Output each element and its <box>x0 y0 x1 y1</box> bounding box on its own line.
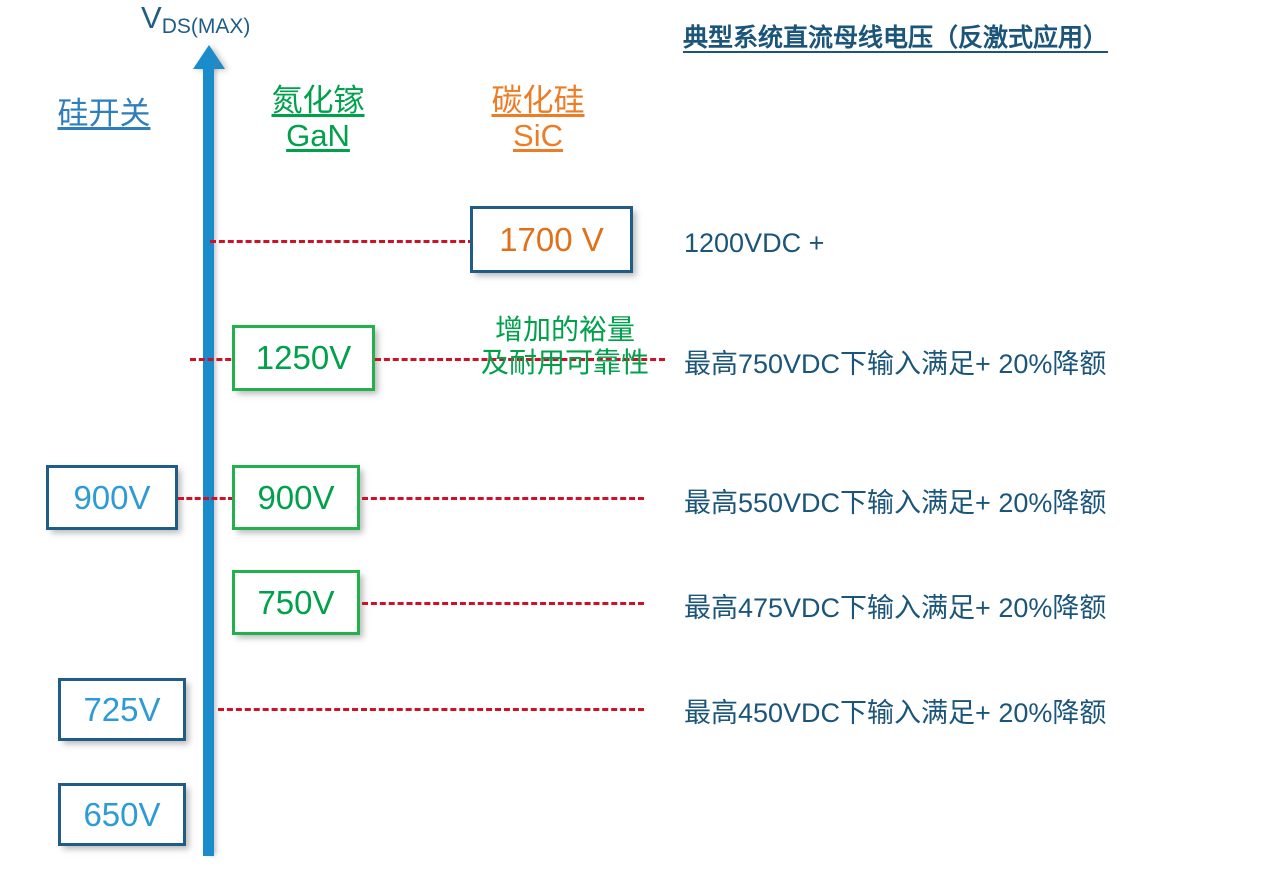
value-box-silicon-900[interactable]: 900V <box>46 465 178 530</box>
value-box-gan-1250[interactable]: 1250V <box>232 325 375 391</box>
value-box-sic-1700[interactable]: 1700 V <box>470 206 633 273</box>
dash-line-1700 <box>210 240 474 243</box>
value-box-silicon-725[interactable]: 725V <box>58 678 186 741</box>
column-header-sic-label-en: SiC <box>513 118 563 153</box>
vertical-axis-shaft <box>203 60 214 856</box>
description-475vdc: 最高475VDC下输入满足+ 20%降额 <box>684 586 1106 625</box>
description-450vdc: 最高450VDC下输入满足+ 20%降额 <box>684 691 1106 730</box>
description-1200vdc: 1200VDC + <box>684 228 824 259</box>
value-box-gan-900[interactable]: 900V <box>232 465 360 530</box>
dash-line-725 <box>218 708 644 711</box>
voltage-comparison-diagram: VDS(MAX) 硅开关 氮化镓 GaN 碳化硅 SiC 典型系统直流母线电压（… <box>0 0 1279 885</box>
axis-label-main: V <box>141 0 162 35</box>
dash-line-900-right <box>362 497 644 500</box>
annotation-line1: 增加的裕量 <box>495 314 635 345</box>
annotation-line2: 及耐用可靠性 <box>481 347 649 378</box>
column-header-gan-label-cn: 氮化镓 <box>272 83 365 118</box>
column-header-sic-label-cn: 碳化硅 <box>492 83 585 118</box>
dash-line-750 <box>362 602 644 605</box>
column-header-gan: 氮化镓 GaN <box>232 83 404 154</box>
column-header-silicon-label: 硅开关 <box>58 96 151 131</box>
value-box-silicon-650[interactable]: 650V <box>58 783 186 846</box>
column-header-silicon: 硅开关 <box>18 96 190 131</box>
axis-label-subscript: DS(MAX) <box>162 15 251 38</box>
column-header-sic: 碳化硅 SiC <box>452 83 624 154</box>
description-550vdc: 最高550VDC下输入满足+ 20%降额 <box>684 481 1106 520</box>
value-box-gan-750[interactable]: 750V <box>232 570 360 635</box>
description-750vdc: 最高750VDC下输入满足+ 20%降额 <box>684 342 1106 381</box>
dash-line-900-left <box>178 497 234 500</box>
annotation-added-margin: 增加的裕量 及耐用可靠性 <box>470 313 660 379</box>
right-section-header: 典型系统直流母线电压（反激式应用） <box>683 18 1108 54</box>
axis-label-vds-max: VDS(MAX) <box>141 2 250 33</box>
column-header-gan-label-en: GaN <box>286 118 350 153</box>
